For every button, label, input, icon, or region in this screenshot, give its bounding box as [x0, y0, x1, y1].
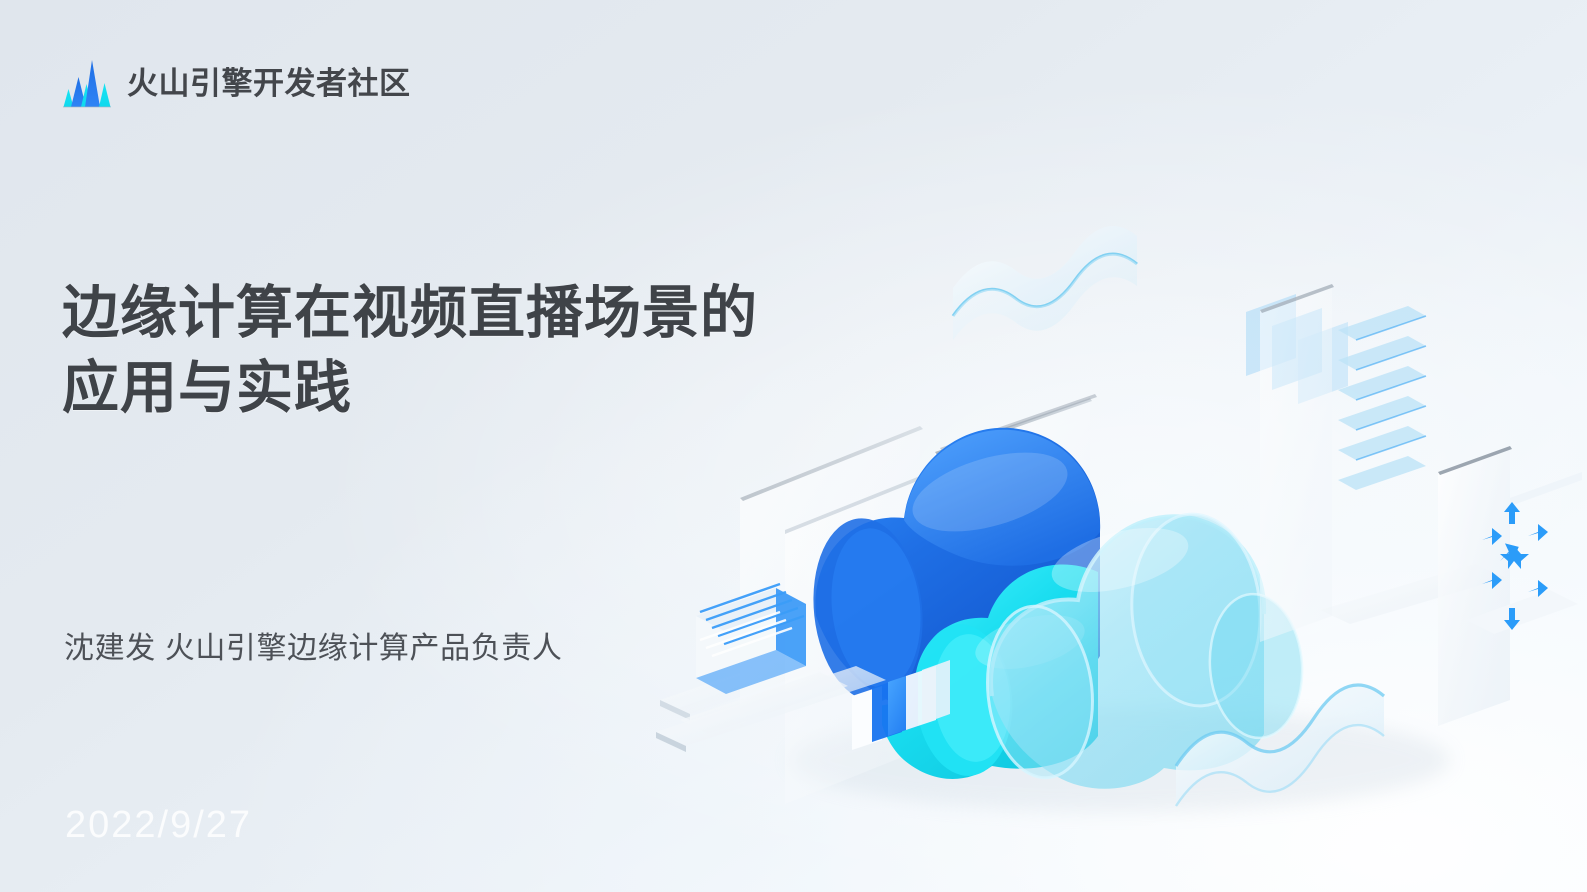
brand-logo[interactable]: 火山引擎开发者社区 [61, 58, 411, 108]
brand-logo-text: 火山引擎开发者社区 [127, 68, 411, 99]
slide-root: 火山引擎开发者社区 边缘计算在视频直播场景的 应用与实践 沈建发 火山引擎边缘计… [0, 0, 1587, 892]
edge-cloud-isometric-illustration [620, 180, 1587, 840]
speaker-line: 沈建发 火山引擎边缘计算产品负责人 [64, 634, 563, 664]
glass-panel-right [1260, 284, 1334, 642]
wave-ribbon-top [953, 226, 1137, 340]
louver-fins-icon [1338, 306, 1426, 490]
volcano-mountain-icon [61, 58, 113, 108]
network-node-panel [1438, 446, 1582, 726]
date-label: 2022/9/27 [65, 806, 252, 844]
